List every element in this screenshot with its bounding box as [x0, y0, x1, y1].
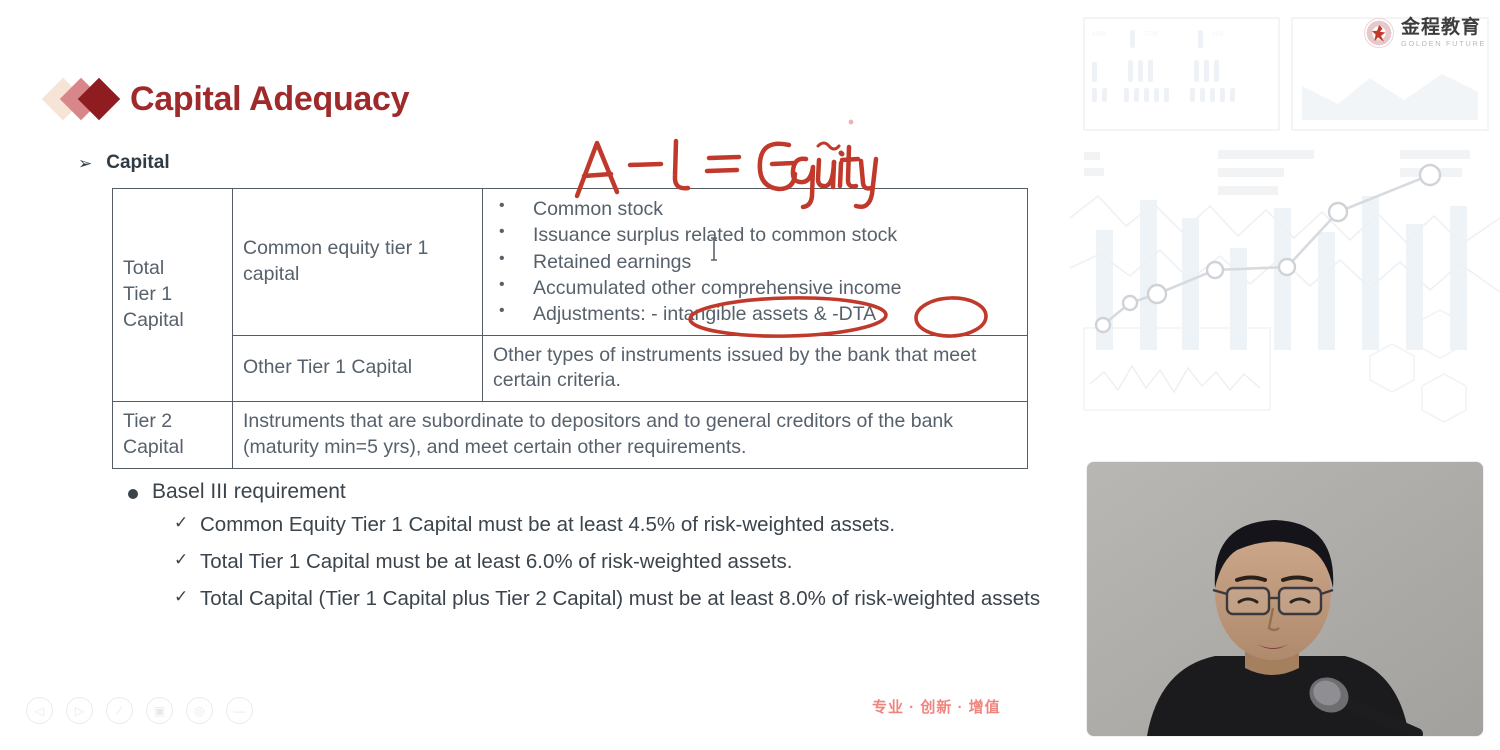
right-panel: 40%72%118	[1070, 0, 1500, 750]
cet1-item-list: Common stock Issuance surplus related to…	[493, 196, 1017, 328]
list-item: Common Equity Tier 1 Capital must be at …	[174, 510, 1048, 541]
slide-canvas[interactable]: Capital Adequacy ➢ Capital Total Tier 1 …	[0, 0, 1070, 750]
zoom-icon[interactable]: ◎	[186, 697, 213, 724]
ink-dot	[849, 120, 854, 125]
arrow-bullet-icon: ➢	[78, 155, 92, 172]
capital-table: Total Tier 1 Capital Common equity tier …	[112, 188, 1028, 469]
page-title: Capital Adequacy	[130, 80, 409, 119]
list-item: Common stock	[493, 196, 1017, 222]
tier2-label-line2: Capital	[123, 435, 222, 461]
player-toolbar[interactable]: ◁ ▷ ⁄ ▣ ◎ —	[26, 697, 253, 724]
list-item: Issuance surplus related to common stock	[493, 222, 1017, 248]
subheading-row: ➢ Capital	[78, 152, 170, 174]
presenter-video-frame	[1087, 462, 1483, 736]
brand-seal-icon	[1364, 18, 1394, 48]
cell-cet1-category: Common equity tier 1 capital	[233, 189, 483, 336]
cell-tier2-label: Tier 2 Capital	[113, 402, 233, 468]
svg-text:118: 118	[1212, 31, 1223, 38]
basel-section: Basel III requirement Common Equity Tier…	[128, 480, 1048, 614]
table-row: Total Tier 1 Capital Common equity tier …	[113, 189, 1028, 336]
minimize-icon[interactable]: —	[226, 697, 253, 724]
cell-tier2-description: Instruments that are subordinate to depo…	[233, 402, 1028, 468]
app-window: Capital Adequacy ➢ Capital Total Tier 1 …	[0, 0, 1500, 750]
svg-text:40%: 40%	[1092, 31, 1106, 38]
list-item: Total Capital (Tier 1 Capital plus Tier …	[174, 584, 1048, 615]
brand-name-cn: 金程教育	[1401, 18, 1486, 37]
diamond-decoration-icon	[48, 76, 130, 122]
cell-cet1-items: Common stock Issuance surplus related to…	[483, 189, 1028, 336]
round-bullet-icon	[128, 489, 138, 499]
list-item: Accumulated other comprehensive income	[493, 275, 1017, 301]
presenter-webcam[interactable]	[1087, 462, 1483, 736]
basel-heading: Basel III requirement	[152, 480, 346, 504]
previous-slide-icon[interactable]: ◁	[26, 697, 53, 724]
table-row: Tier 2 Capital Instruments that are subo…	[113, 402, 1028, 468]
list-item: Retained earnings	[493, 249, 1017, 275]
pen-icon[interactable]: ⁄	[106, 697, 133, 724]
tier1-label-line3: Capital	[123, 308, 222, 334]
brand-name-en: GOLDEN FUTURE	[1401, 40, 1486, 48]
tier1-label-line2: Tier 1	[123, 282, 222, 308]
footer-slogan: 专业 · 创新 · 增值	[872, 696, 1001, 717]
cell-other-tier1-description: Other types of instruments issued by the…	[483, 335, 1028, 401]
play-icon[interactable]: ▷	[66, 697, 93, 724]
decorative-infographic: 40%72%118	[1070, 0, 1500, 470]
svg-text:72%: 72%	[1144, 31, 1158, 38]
cell-tier1-label: Total Tier 1 Capital	[113, 189, 233, 402]
subheading-label: Capital	[106, 152, 169, 174]
screenshot-icon[interactable]: ▣	[146, 697, 173, 724]
list-item: Total Tier 1 Capital must be at least 6.…	[174, 547, 1048, 578]
cell-other-tier1-category: Other Tier 1 Capital	[233, 335, 483, 401]
brand-logo: 金程教育 GOLDEN FUTURE	[1364, 18, 1486, 48]
basel-heading-row: Basel III requirement	[128, 480, 1048, 504]
basel-requirements-list: Common Equity Tier 1 Capital must be at …	[174, 510, 1048, 614]
tier2-label-line1: Tier 2	[123, 409, 222, 435]
list-item: Adjustments: - intangible assets & -DTA	[493, 301, 1017, 327]
tier1-label-line1: Total	[123, 256, 222, 282]
table-row: Other Tier 1 Capital Other types of inst…	[113, 335, 1028, 401]
slide-title-row: Capital Adequacy	[48, 76, 409, 122]
